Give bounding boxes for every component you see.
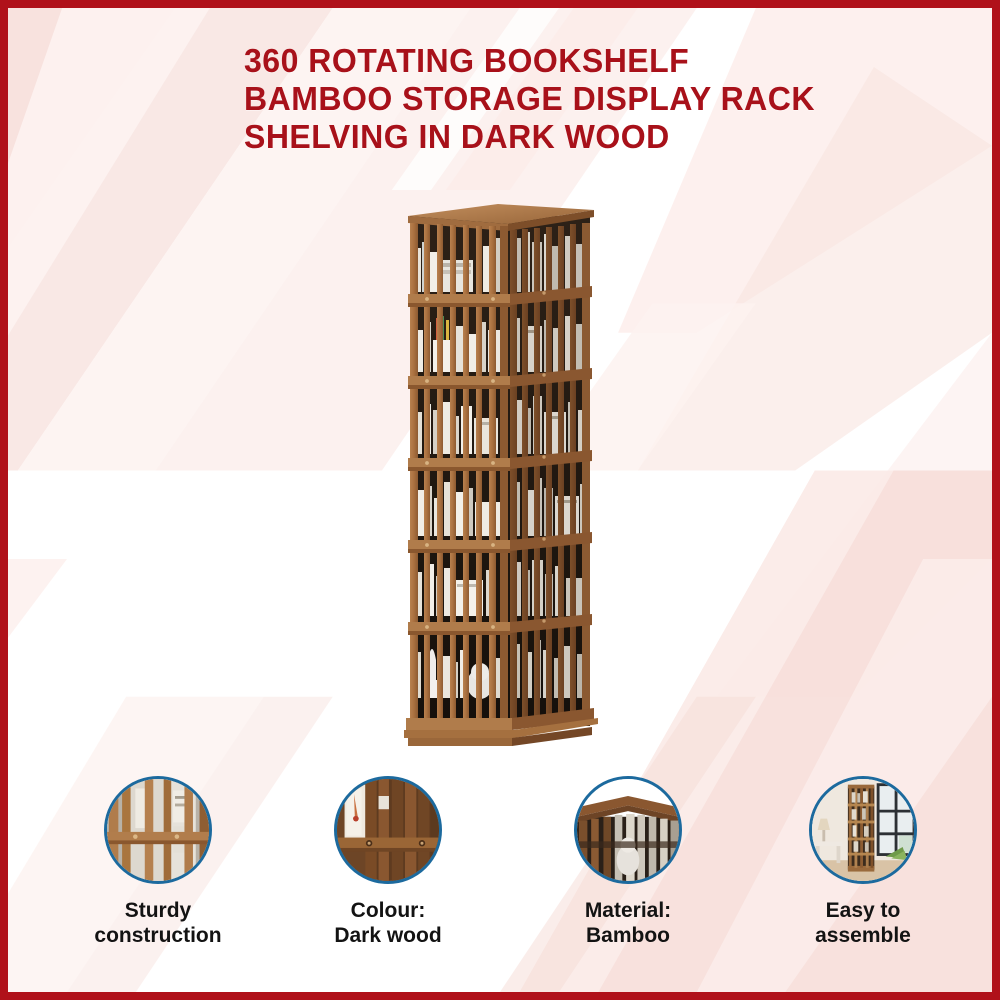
feature-image-sturdy-construction: [104, 776, 212, 884]
room-scene-bookshelf-icon: [812, 779, 914, 881]
closeup-dark-wood-slats-icon: [337, 779, 439, 881]
feature-caption: Sturdy construction: [63, 898, 253, 948]
product-title: 360 ROTATING BOOKSHELF BAMBOO STORAGE DI…: [244, 42, 984, 156]
feature-image-material-bamboo: [574, 776, 682, 884]
title-line-1: 360 ROTATING BOOKSHELF: [244, 42, 962, 80]
bookshelf-illustration: [394, 190, 606, 765]
feature-colour-dark-wood: Colour: Dark wood: [293, 776, 483, 948]
feature-caption: Easy to assemble: [768, 898, 958, 948]
closeup-slat-joinery-icon: [107, 779, 209, 881]
feature-image-colour-dark-wood: [334, 776, 442, 884]
feature-sturdy-construction: Sturdy construction: [63, 776, 253, 948]
bamboo-frame-corner-icon: [577, 779, 679, 881]
feature-easy-to-assemble: Easy to assemble: [768, 776, 958, 948]
product-image-rotating-bookshelf: [394, 190, 606, 765]
feature-image-easy-to-assemble: [809, 776, 917, 884]
title-line-2: BAMBOO STORAGE DISPLAY RACK: [244, 80, 962, 118]
title-line-3: SHELVING IN DARK WOOD: [244, 118, 962, 156]
product-listing-image: 360 ROTATING BOOKSHELF BAMBOO STORAGE DI…: [0, 0, 1000, 1000]
feature-caption: Colour: Dark wood: [293, 898, 483, 948]
feature-material-bamboo: Material: Bamboo: [533, 776, 723, 948]
feature-caption: Material: Bamboo: [533, 898, 723, 948]
